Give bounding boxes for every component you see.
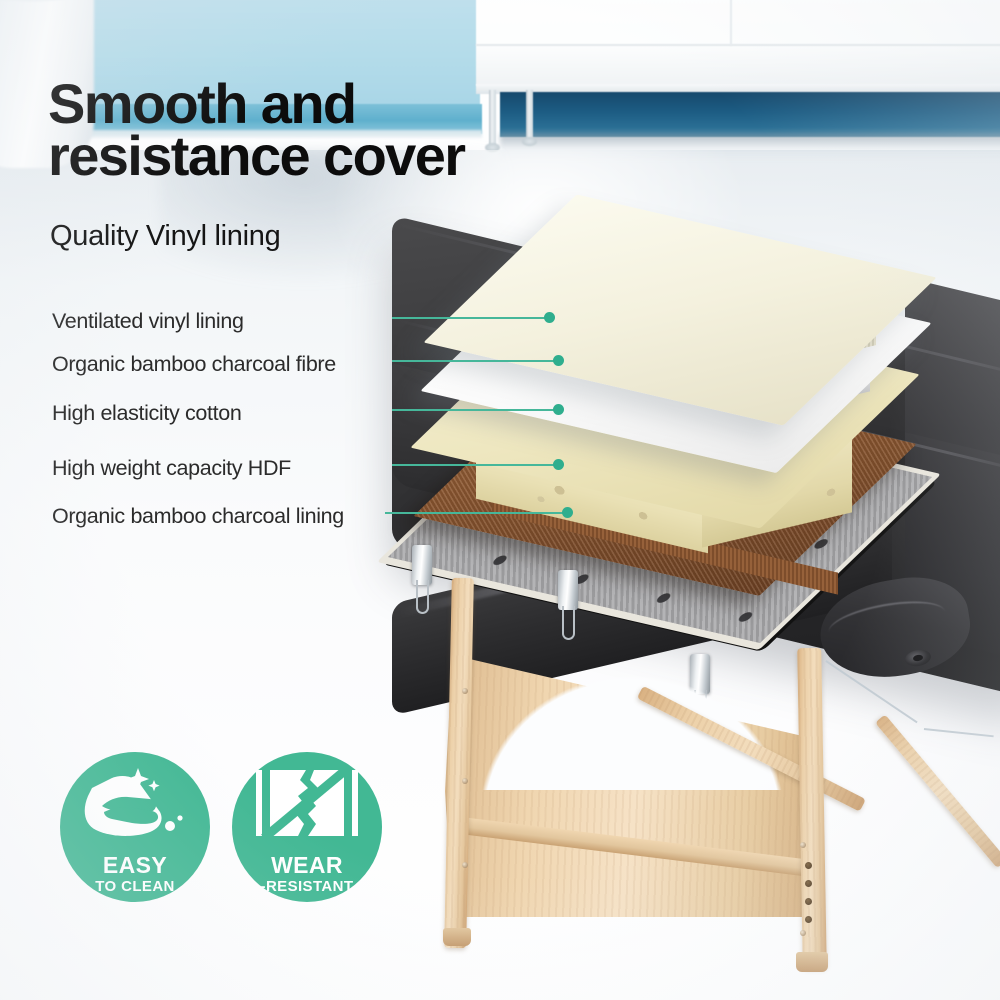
feature-label-high-elasticity-cotton: High elasticity cotton: [52, 401, 241, 426]
leader-line-3: [392, 409, 556, 411]
hand-wiping-cloth-icon: [78, 766, 192, 846]
leader-dot-2: [553, 355, 564, 366]
torn-fabric-slashed-icon: [256, 766, 358, 844]
badge-easy-to-clean-subtitle: TO CLEAN: [60, 878, 210, 895]
feature-label-high-weight-capacity-hdf: High weight capacity HDF: [52, 456, 291, 481]
leader-line-5: [385, 512, 565, 514]
feature-label-organic-bamboo-charcoal-lining: Organic bamboo charcoal lining: [52, 504, 344, 529]
leader-dot-5: [562, 507, 573, 518]
leader-line-1: [392, 317, 547, 319]
badge-wear-resistant-title: WEAR: [232, 852, 382, 879]
badge-wear-resistant-subtitle: -RESISTANT: [232, 878, 382, 895]
leader-dot-4: [553, 459, 564, 470]
feature-label-ventilated-vinyl-lining: Ventilated vinyl lining: [52, 309, 244, 334]
leader-dot-3: [553, 404, 564, 415]
feature-label-organic-bamboo-charcoal-fibre: Organic bamboo charcoal fibre: [52, 352, 336, 377]
badge-easy-to-clean-title: EASY: [60, 852, 210, 879]
leader-line-4: [392, 464, 556, 466]
leader-dot-1: [544, 312, 555, 323]
leader-line-2: [392, 360, 556, 362]
product-marketing-image: Smooth and resistance cover Quality Viny…: [0, 0, 1000, 1000]
